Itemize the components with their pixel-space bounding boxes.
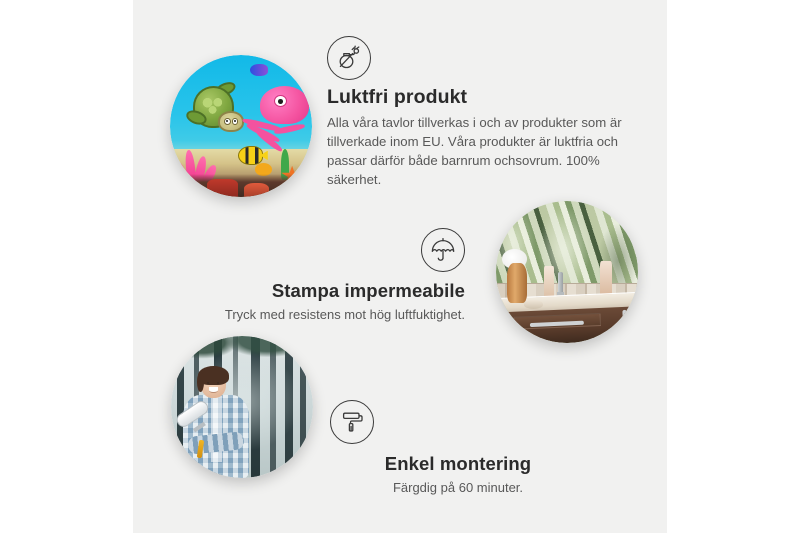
- feature-title: Luktfri produkt: [327, 86, 627, 109]
- icon-row: [327, 36, 627, 80]
- no-fragrance-icon: [327, 36, 371, 80]
- icon-row: [200, 228, 465, 272]
- toiletry-bottle: [600, 261, 613, 298]
- screenshot-canvas: Luktfri produkt Alla våra tavlor tillver…: [0, 0, 800, 533]
- feature-block-easy-assembly: Enkel montering Färgdig på 60 minuter.: [328, 400, 588, 498]
- feature-body: Alla våra tavlor tillverkas i och av pro…: [327, 113, 627, 190]
- wood-cabinet: [504, 306, 638, 343]
- feature-title: Enkel montering: [328, 453, 588, 475]
- woman-with-roller-forest-photo: [171, 336, 313, 478]
- gold-vase: [507, 263, 527, 303]
- blue-fish: [250, 64, 268, 77]
- feature-block-waterproof: Stampa impermeabile Tryck med resistens …: [200, 228, 465, 325]
- turtle-illustration: [188, 86, 245, 134]
- photo-bottom-strip: [170, 174, 312, 197]
- paint-roller-icon: [330, 400, 374, 444]
- feature-body: Tryck med resistens mot hög luftfuktighe…: [200, 306, 465, 325]
- feature-title: Stampa impermeabile: [200, 280, 465, 302]
- faucet: [558, 272, 562, 295]
- underwater-cartoon-photo: [170, 55, 312, 197]
- soap-dish: [524, 300, 542, 309]
- bathroom-vanity-photo: [496, 201, 638, 343]
- icon-row: [328, 400, 588, 444]
- striped-fish: [238, 146, 263, 165]
- toiletry-bottle-small: [544, 266, 554, 297]
- woman-figure: [180, 367, 262, 478]
- umbrella-icon: [421, 228, 465, 272]
- feature-body: Färgdig på 60 minuter.: [328, 479, 588, 498]
- feature-block-odourless: Luktfri produkt Alla våra tavlor tillver…: [327, 36, 627, 190]
- octopus-illustration: [247, 86, 309, 154]
